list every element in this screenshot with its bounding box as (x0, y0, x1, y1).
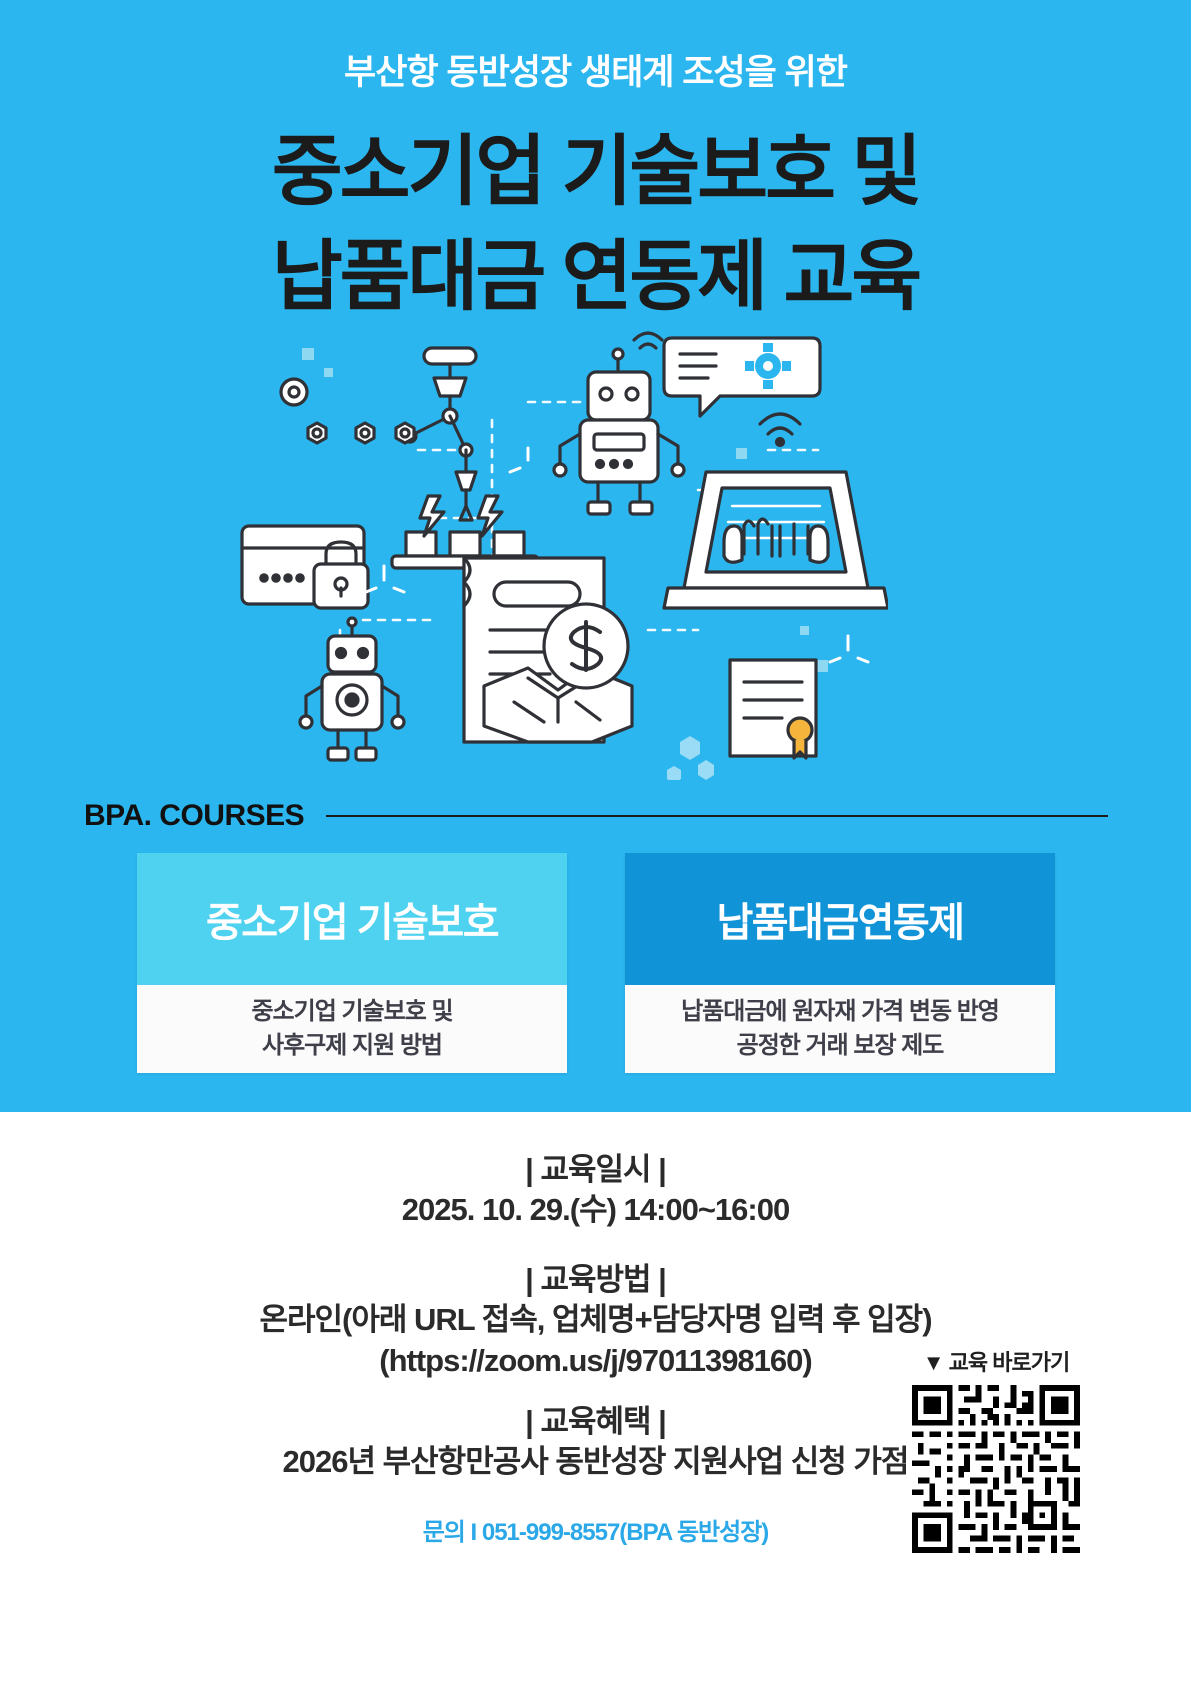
ring-icon (281, 379, 307, 405)
tech-illustration (228, 330, 888, 780)
course-card-title: 납품대금연동제 (625, 853, 1055, 985)
schedule-value: 2025. 10. 29.(수) 14:00~16:00 (0, 1190, 1191, 1231)
course-card-desc-line-2: 공정한 거래 보장 제도 (737, 1029, 944, 1063)
qr-code-image[interactable] (912, 1385, 1080, 1553)
dollar-icon (544, 604, 628, 688)
course-card-desc-line-1: 납품대금에 원자재 가격 변동 반영 (681, 995, 999, 1029)
course-card-technology-protection[interactable]: 중소기업 기술보호 중소기업 기술보호 및 사후구제 지원 방법 (137, 853, 567, 1073)
method-line-1: 온라인(아래 URL 접속, 업체명+담당자명 입력 후 입장) (0, 1300, 1191, 1341)
course-card-desc-line-1: 중소기업 기술보호 및 (251, 995, 452, 1029)
certificate-icon (730, 660, 816, 758)
secure-payment-icon (242, 526, 368, 608)
laptop-icon (664, 472, 888, 608)
page-title-line-2: 납품대금 연동제 교육 (0, 225, 1191, 330)
course-card-title: 중소기업 기술보호 (137, 853, 567, 985)
wifi-small-icon (634, 333, 662, 348)
method-label: | 교육방법 | (0, 1260, 1191, 1300)
course-card-description: 중소기업 기술보호 및 사후구제 지원 방법 (137, 985, 567, 1073)
poster: 부산항 동반성장 생태계 조성을 위한 중소기업 기술보호 및 납품대금 연동제… (0, 0, 1191, 1684)
small-robot-icon (300, 618, 404, 760)
qr-section[interactable]: ▼ 교육 바로가기 (906, 1345, 1086, 1553)
wifi-icon (760, 414, 800, 446)
hexagon-deco (667, 736, 714, 780)
speech-bubble-icon (664, 338, 820, 416)
page-title: 중소기업 기술보호 및 납품대금 연동제 교육 (0, 120, 1191, 329)
course-card-list: 중소기업 기술보호 중소기업 기술보호 및 사후구제 지원 방법 납품대금연동제… (137, 853, 1055, 1073)
course-card-payment-linkage[interactable]: 납품대금연동제 납품대금에 원자재 가격 변동 반영 공정한 거래 보장 제도 (625, 853, 1055, 1073)
eyebrow-text: 부산항 동반성장 생태계 조성을 위한 (0, 52, 1191, 94)
divider (326, 815, 1108, 817)
hero-panel: 부산항 동반성장 생태계 조성을 위한 중소기업 기술보호 및 납품대금 연동제… (0, 0, 1191, 1112)
courses-section-header: BPA. COURSES (84, 795, 1108, 837)
schedule-block: | 교육일시 | 2025. 10. 29.(수) 14:00~16:00 (0, 1150, 1191, 1231)
course-card-desc-line-2: 사후구제 지원 방법 (262, 1029, 442, 1063)
course-card-description: 납품대금에 원자재 가격 변동 반영 공정한 거래 보장 제도 (625, 985, 1055, 1073)
bolt-icon (308, 423, 414, 443)
page-title-line-1: 중소기업 기술보호 및 (0, 120, 1191, 225)
schedule-label: | 교육일시 | (0, 1150, 1191, 1190)
qr-label: ▼ 교육 바로가기 (906, 1345, 1086, 1377)
courses-section-title: BPA. COURSES (84, 799, 304, 833)
